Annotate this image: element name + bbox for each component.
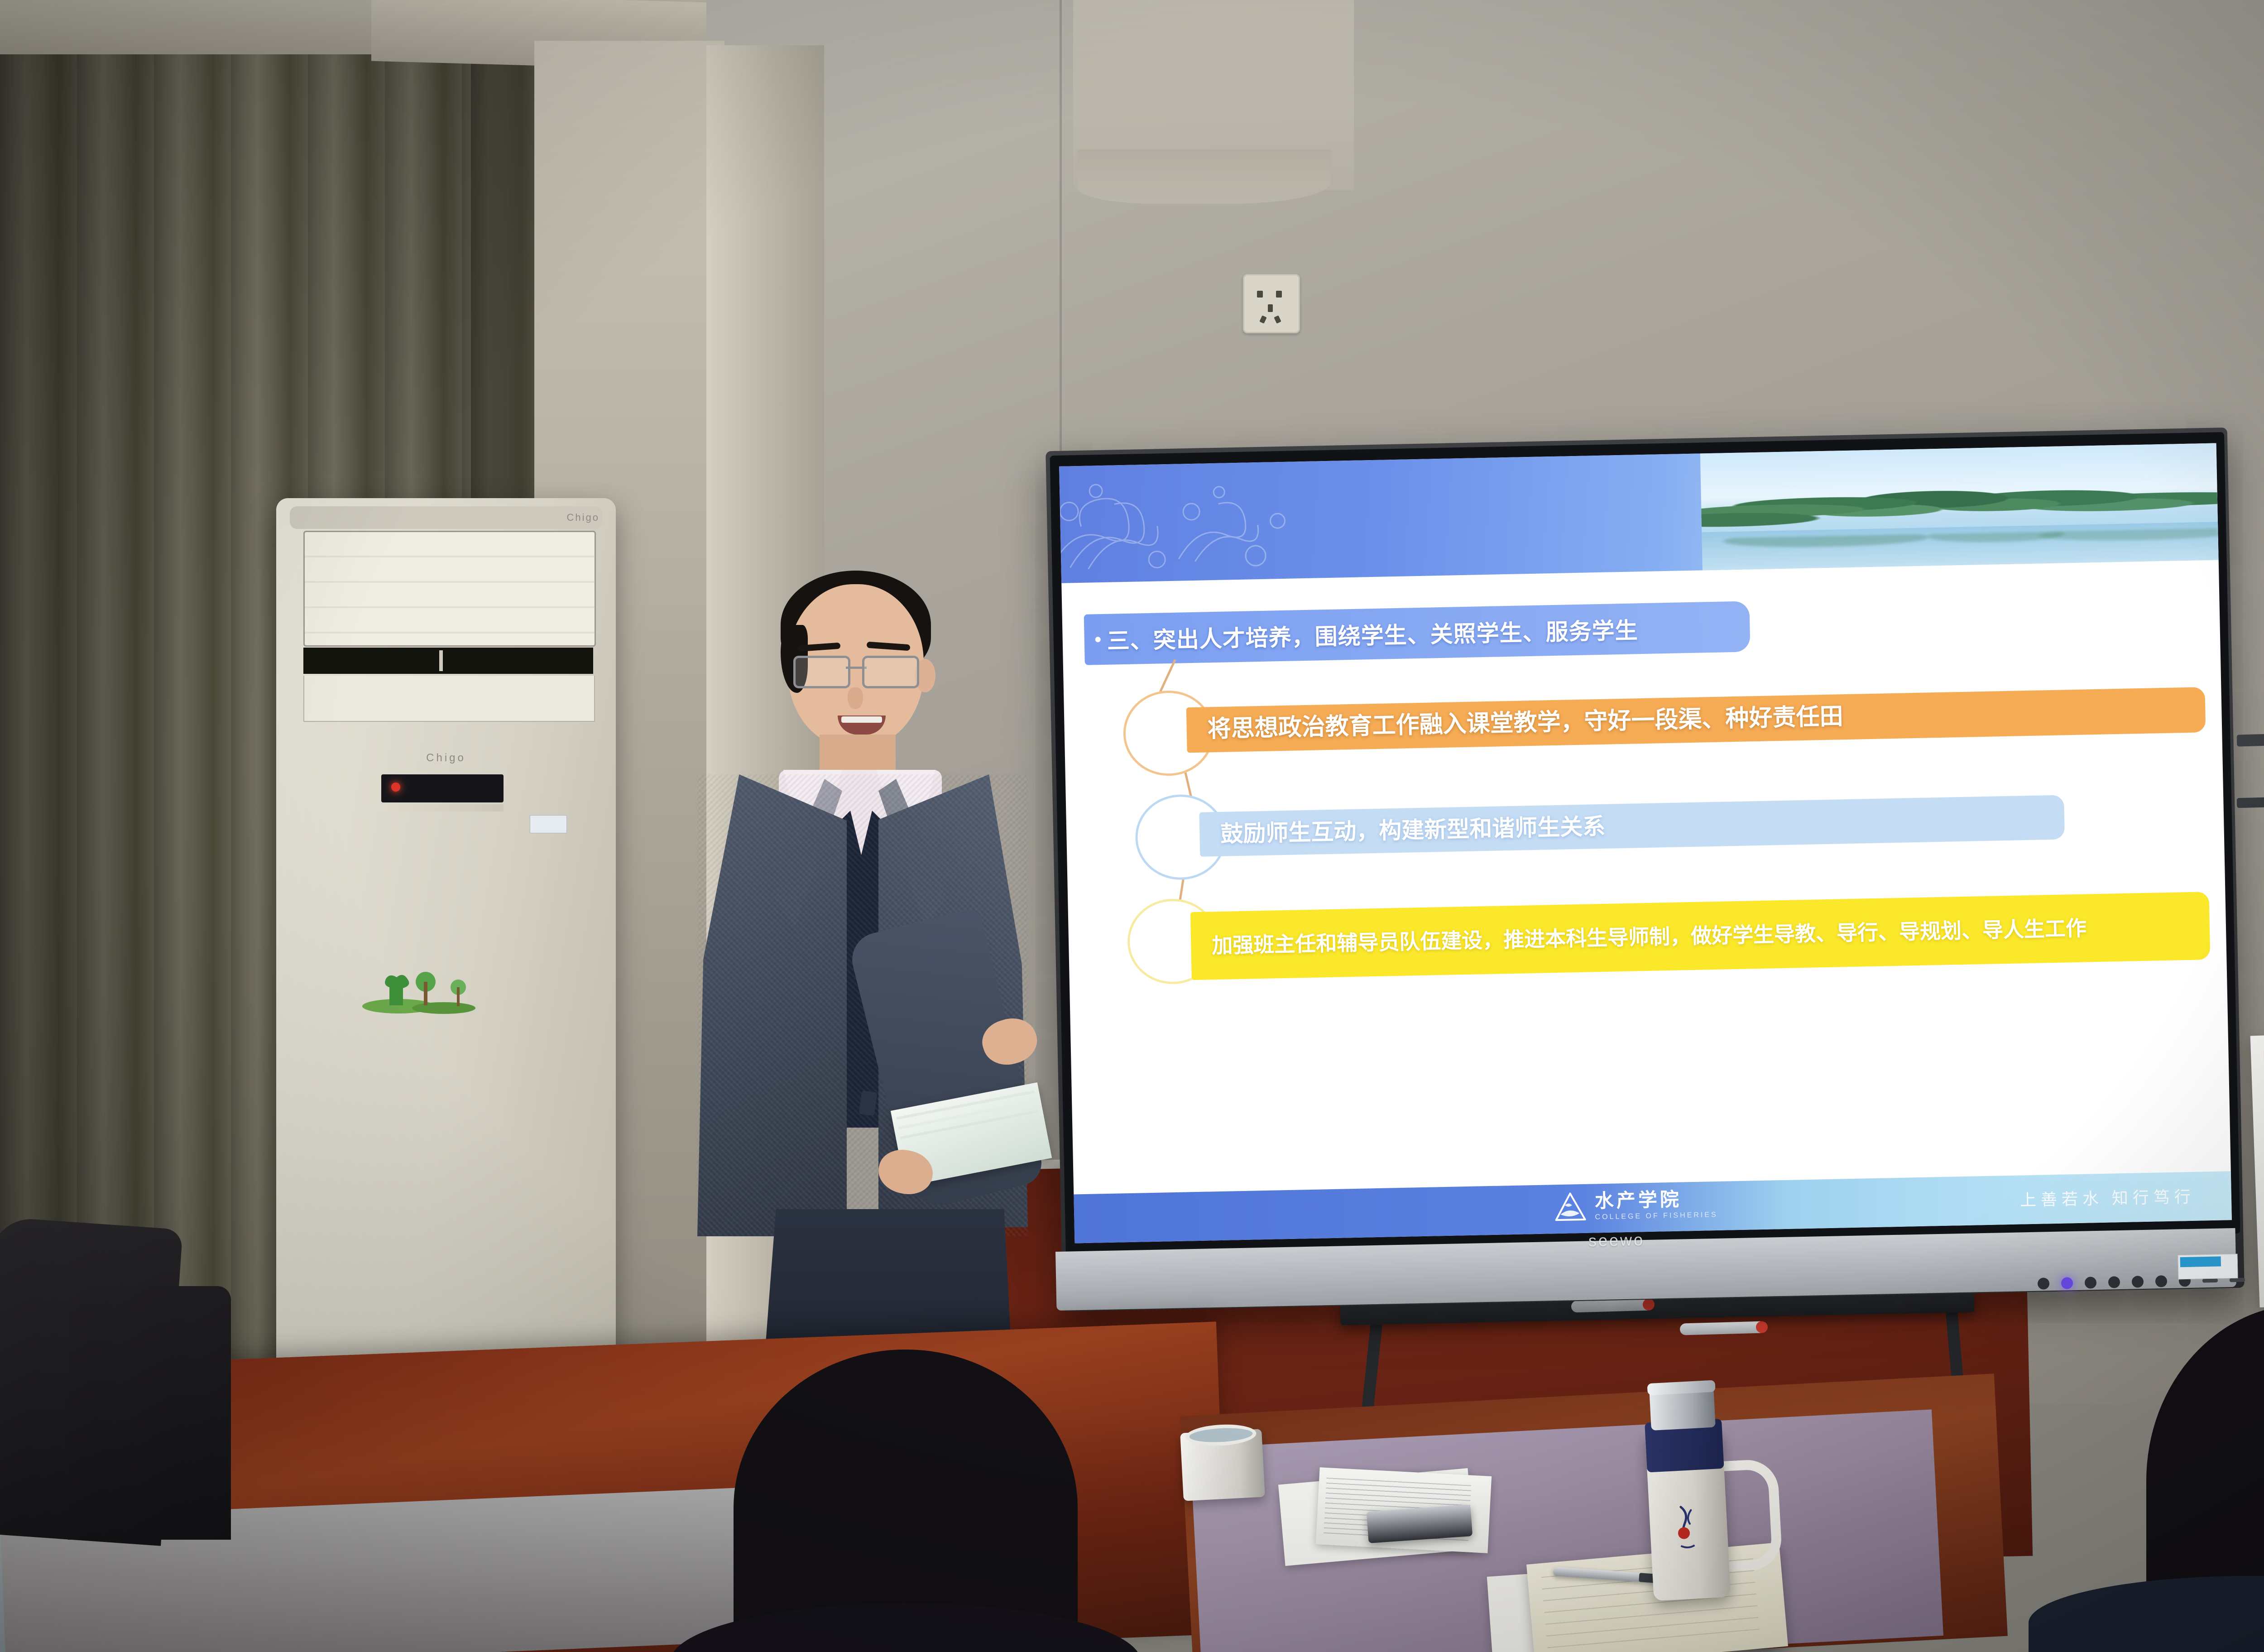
slide-point-3-text: 加强班主任和辅导员队伍建设，推进本科生导师制，做好学生导教、导行、导规划、导人生…: [1191, 916, 2099, 958]
ac-lower-panel: [303, 676, 595, 722]
conference-room-photo: Chigo Chigo: [0, 0, 2264, 1652]
lanyard-badge: [859, 1090, 878, 1116]
display-button[interactable]: [2132, 1276, 2144, 1288]
thermos-flask[interactable]: [1643, 1379, 1749, 1601]
ceramic-cup[interactable]: [1180, 1429, 1265, 1501]
ac-spec-label: [530, 815, 567, 833]
ac-button-strip[interactable]: [381, 804, 504, 812]
ac-brand-text: Chigo: [276, 752, 616, 764]
college-motto: 上善若水 知行笃行: [2019, 1184, 2195, 1211]
attendee-shoulders: [2029, 1576, 2264, 1652]
slide-point-3: 加强班主任和辅导员队伍建设，推进本科生导师制，做好学生导教、导行、导规划、导人生…: [1190, 892, 2211, 980]
ac-brand-logo: Chigo: [567, 512, 600, 523]
thermos-calligraphy-art: [1673, 1503, 1707, 1559]
presenter-nose: [848, 687, 863, 709]
college-logo-block: 水产学院 COLLEGE OF FISHERIES: [1554, 1189, 1717, 1223]
display-button[interactable]: [2155, 1275, 2168, 1287]
presenter-glasses: [793, 656, 919, 687]
air-conditioner[interactable]: Chigo Chigo: [276, 498, 616, 1395]
presenter-jacket-left: [697, 774, 847, 1236]
wave-pattern-icon: [1059, 463, 1451, 580]
seated-attendee-center: [734, 1349, 1078, 1652]
ac-top-cover: [290, 506, 602, 529]
fishery-emblem-icon: [1554, 1191, 1587, 1223]
ac-temperature-display: [381, 774, 504, 802]
ac-vent-slot: [303, 648, 593, 674]
slide-title-text: 三、突出人才培养，围绕学生、关照学生、服务学生: [1107, 612, 1638, 656]
display-brand-label: seewo: [1521, 1229, 1712, 1252]
display-button[interactable]: [2108, 1276, 2120, 1288]
college-name: 水产学院: [1594, 1189, 1717, 1210]
attendee-shoulders: [670, 1603, 1141, 1652]
wall-mount-arm: [2237, 796, 2264, 808]
slide-point-2-text: 鼓励师生互动，构建新型和谐师生关系: [1199, 813, 1617, 848]
slide-title-bar: 三、突出人才培养，围绕学生、关照学生、服务学生: [1084, 601, 1751, 665]
display-button[interactable]: [2085, 1277, 2097, 1289]
slide-point-2: 鼓励师生互动，构建新型和谐师生关系: [1199, 795, 2065, 856]
landscape-decal: [358, 956, 494, 1014]
wireless-microphone[interactable]: [1680, 1321, 1766, 1335]
campus-lake-photo: [1700, 443, 2219, 571]
display-button[interactable]: [2038, 1277, 2050, 1290]
slide-point-1-text: 将思想政治教育工作融入课堂教学，守好一段渠、种好责任田: [1186, 703, 1855, 744]
presenter-speaking: [625, 557, 1091, 1390]
office-chair[interactable]: [68, 1286, 231, 1540]
wall-power-outlet[interactable]: [1243, 274, 1300, 333]
title-bullet-icon: [1095, 637, 1101, 642]
spec-sticker: [2178, 1254, 2238, 1280]
slide-point-1: 将思想政治教育工作融入课堂教学，守好一段渠、种好责任田: [1186, 687, 2206, 753]
ac-air-grille: [303, 531, 596, 647]
slide-banner: [1059, 443, 2219, 583]
college-name-en: COLLEGE OF FISHERIES: [1595, 1211, 1717, 1221]
display-power-button[interactable]: [2061, 1277, 2073, 1289]
presentation-screen[interactable]: 三、突出人才培养，围绕学生、关照学生、服务学生 将思想政治教育工作融入课堂教学，…: [1059, 443, 2232, 1244]
wall-mount-arm: [2237, 732, 2264, 746]
connector-line: [1159, 659, 1176, 692]
slide-flow-diagram: 将思想政治教育工作融入课堂教学，守好一段渠、种好责任田 鼓励师生互动，构建新型和…: [1122, 656, 2218, 1158]
wall-patch-stain: [1078, 149, 1331, 204]
